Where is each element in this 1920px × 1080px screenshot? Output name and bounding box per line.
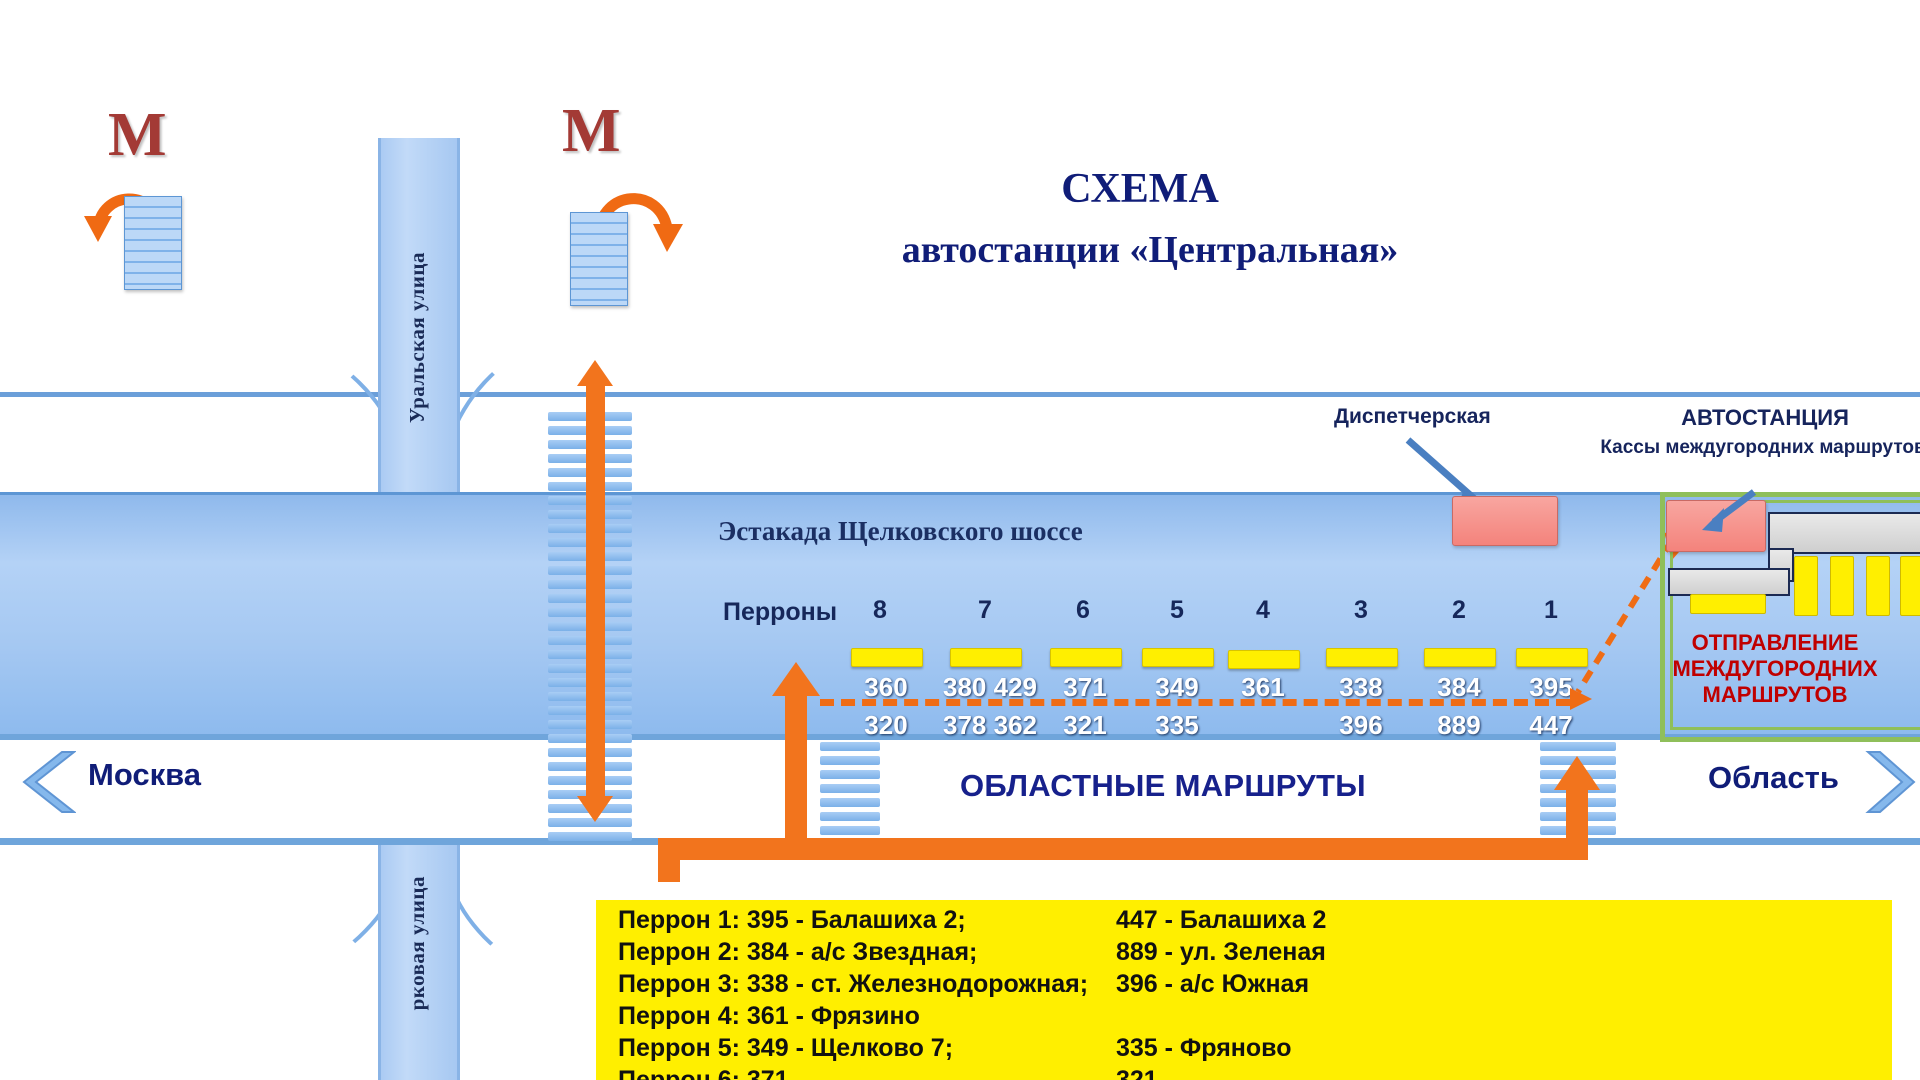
legend-right: 396 - а/с Южная xyxy=(1116,970,1309,999)
direction-left-label: Москва xyxy=(88,757,201,793)
vertical-street-label-bottom: рковая улица xyxy=(405,876,430,1010)
station-bay-vertical[interactable] xyxy=(1866,556,1890,616)
legend-right: 335 - Фряново xyxy=(1116,1034,1291,1063)
legend-row-partial: Перрон 6: 371 - 321 - xyxy=(618,1066,804,1080)
metro-stairs-icon xyxy=(570,212,628,306)
arrow-head-up xyxy=(577,360,613,386)
dispatcher-building[interactable] xyxy=(1452,496,1558,546)
route-bottom: 320 xyxy=(845,710,927,741)
route-bottom: 447 xyxy=(1510,710,1592,741)
ladder-rung xyxy=(820,742,880,751)
route-bottom: 889 xyxy=(1418,710,1500,741)
platform-bay[interactable] xyxy=(1326,648,1398,667)
platform-bay[interactable] xyxy=(1050,648,1122,667)
direction-right-label: Область xyxy=(1708,760,1839,796)
dispatcher-label: Диспетчерская xyxy=(1334,405,1491,429)
platform-bay[interactable] xyxy=(1424,648,1496,667)
page-title-line2: автостанции «Центральная» xyxy=(820,228,1480,272)
station-title-label: АВТОСТАНЦИЯ xyxy=(1620,405,1910,431)
legend-left: Перрон 1: 395 - Балашиха 2; xyxy=(618,906,966,934)
platform-bay[interactable] xyxy=(950,648,1022,667)
station-bay-vertical[interactable] xyxy=(1900,556,1920,616)
regional-routes-label: ОБЛАСТНЫЕ МАРШРУТЫ xyxy=(960,768,1366,804)
legend-row: Перрон 3: 338 - ст. Железнодорожная; 396… xyxy=(618,970,1088,999)
ticket-office-pointer-arrow xyxy=(1694,488,1764,538)
legend-row: Перрон 5: 349 - Щелково 7; 335 - Фряново xyxy=(618,1034,953,1063)
legend-left: Перрон 6: 371 - xyxy=(618,1066,804,1080)
bus-path-dashed xyxy=(820,699,1570,706)
crosswalk-ladder-lower-left xyxy=(820,742,880,835)
platform-number: 2 xyxy=(1436,596,1482,625)
page-title-line1: СХЕМА xyxy=(880,165,1400,213)
arrow-head-up-right xyxy=(1554,756,1600,790)
station-bay-vertical[interactable] xyxy=(1794,556,1818,616)
platform-shelter-lower xyxy=(1668,568,1790,596)
platform-number: 8 xyxy=(857,596,903,625)
platform-number: 7 xyxy=(962,596,1008,625)
legend-box: Перрон 1: 395 - Балашиха 2; 447 - Балаши… xyxy=(596,900,1892,1080)
station-subtitle-label: Кассы междугородних маршрутов xyxy=(1598,436,1920,459)
metro-stairs-icon xyxy=(124,196,182,290)
legend-left: Перрон 2: 384 - а/с Звездная; xyxy=(618,938,977,966)
legend-right: 321 - xyxy=(1116,1066,1173,1080)
station-scheme-diagram: Уральская улица рковая улица Эстакада Ще… xyxy=(0,0,1920,1080)
metro-m-icon: М xyxy=(562,96,621,167)
platform-bay[interactable] xyxy=(1228,650,1300,669)
station-bay-vertical[interactable] xyxy=(1830,556,1854,616)
legend-left: Перрон 3: 338 - ст. Железнодорожная; xyxy=(618,970,1088,998)
legend-row: Перрон 4: 361 - Фрязино xyxy=(618,1002,920,1031)
overpass-label: Эстакада Щелковского шоссе xyxy=(718,516,1083,547)
legend-left: Перрон 5: 349 - Щелково 7; xyxy=(618,1034,953,1062)
route-bottom: 378 362 xyxy=(930,710,1050,741)
platform-number: 6 xyxy=(1060,596,1106,625)
platform-number: 4 xyxy=(1240,596,1286,625)
platform-bay[interactable] xyxy=(1142,648,1214,667)
legend-row: Перрон 1: 395 - Балашиха 2; 447 - Балаши… xyxy=(618,906,966,935)
arrow-head-down xyxy=(577,796,613,822)
chevron-right-icon xyxy=(1856,750,1918,814)
chevron-left-icon xyxy=(14,750,76,814)
ladder-rung xyxy=(1540,742,1616,751)
vertical-street-label-top: Уральская улица xyxy=(405,252,430,423)
route-bottom: 321 xyxy=(1044,710,1126,741)
legend-right: 447 - Балашиха 2 xyxy=(1116,906,1326,935)
route-bottom: 396 xyxy=(1320,710,1402,741)
route-bottom: 335 xyxy=(1136,710,1218,741)
legend-left: Перрон 4: 361 - Фрязино xyxy=(618,1002,920,1030)
station-bay-horizontal[interactable] xyxy=(1690,594,1766,614)
arrow-head-up-left xyxy=(772,662,820,696)
legend-row: Перрон 2: 384 - а/с Звездная; 889 - ул. … xyxy=(618,938,977,967)
platforms-label: Перроны xyxy=(723,598,837,627)
departure-label: ОТПРАВЛЕНИЕ МЕЖДУГОРОДНИХ МАРШРУТОВ xyxy=(1630,630,1920,708)
platform-number: 5 xyxy=(1154,596,1200,625)
road-fillet-tl xyxy=(200,320,408,488)
legend-right: 889 - ул. Зеленая xyxy=(1116,938,1326,967)
platform-number: 3 xyxy=(1338,596,1384,625)
road-fillet-bl xyxy=(200,838,408,996)
platform-bay[interactable] xyxy=(851,648,923,667)
metro-m-icon: М xyxy=(108,100,167,171)
